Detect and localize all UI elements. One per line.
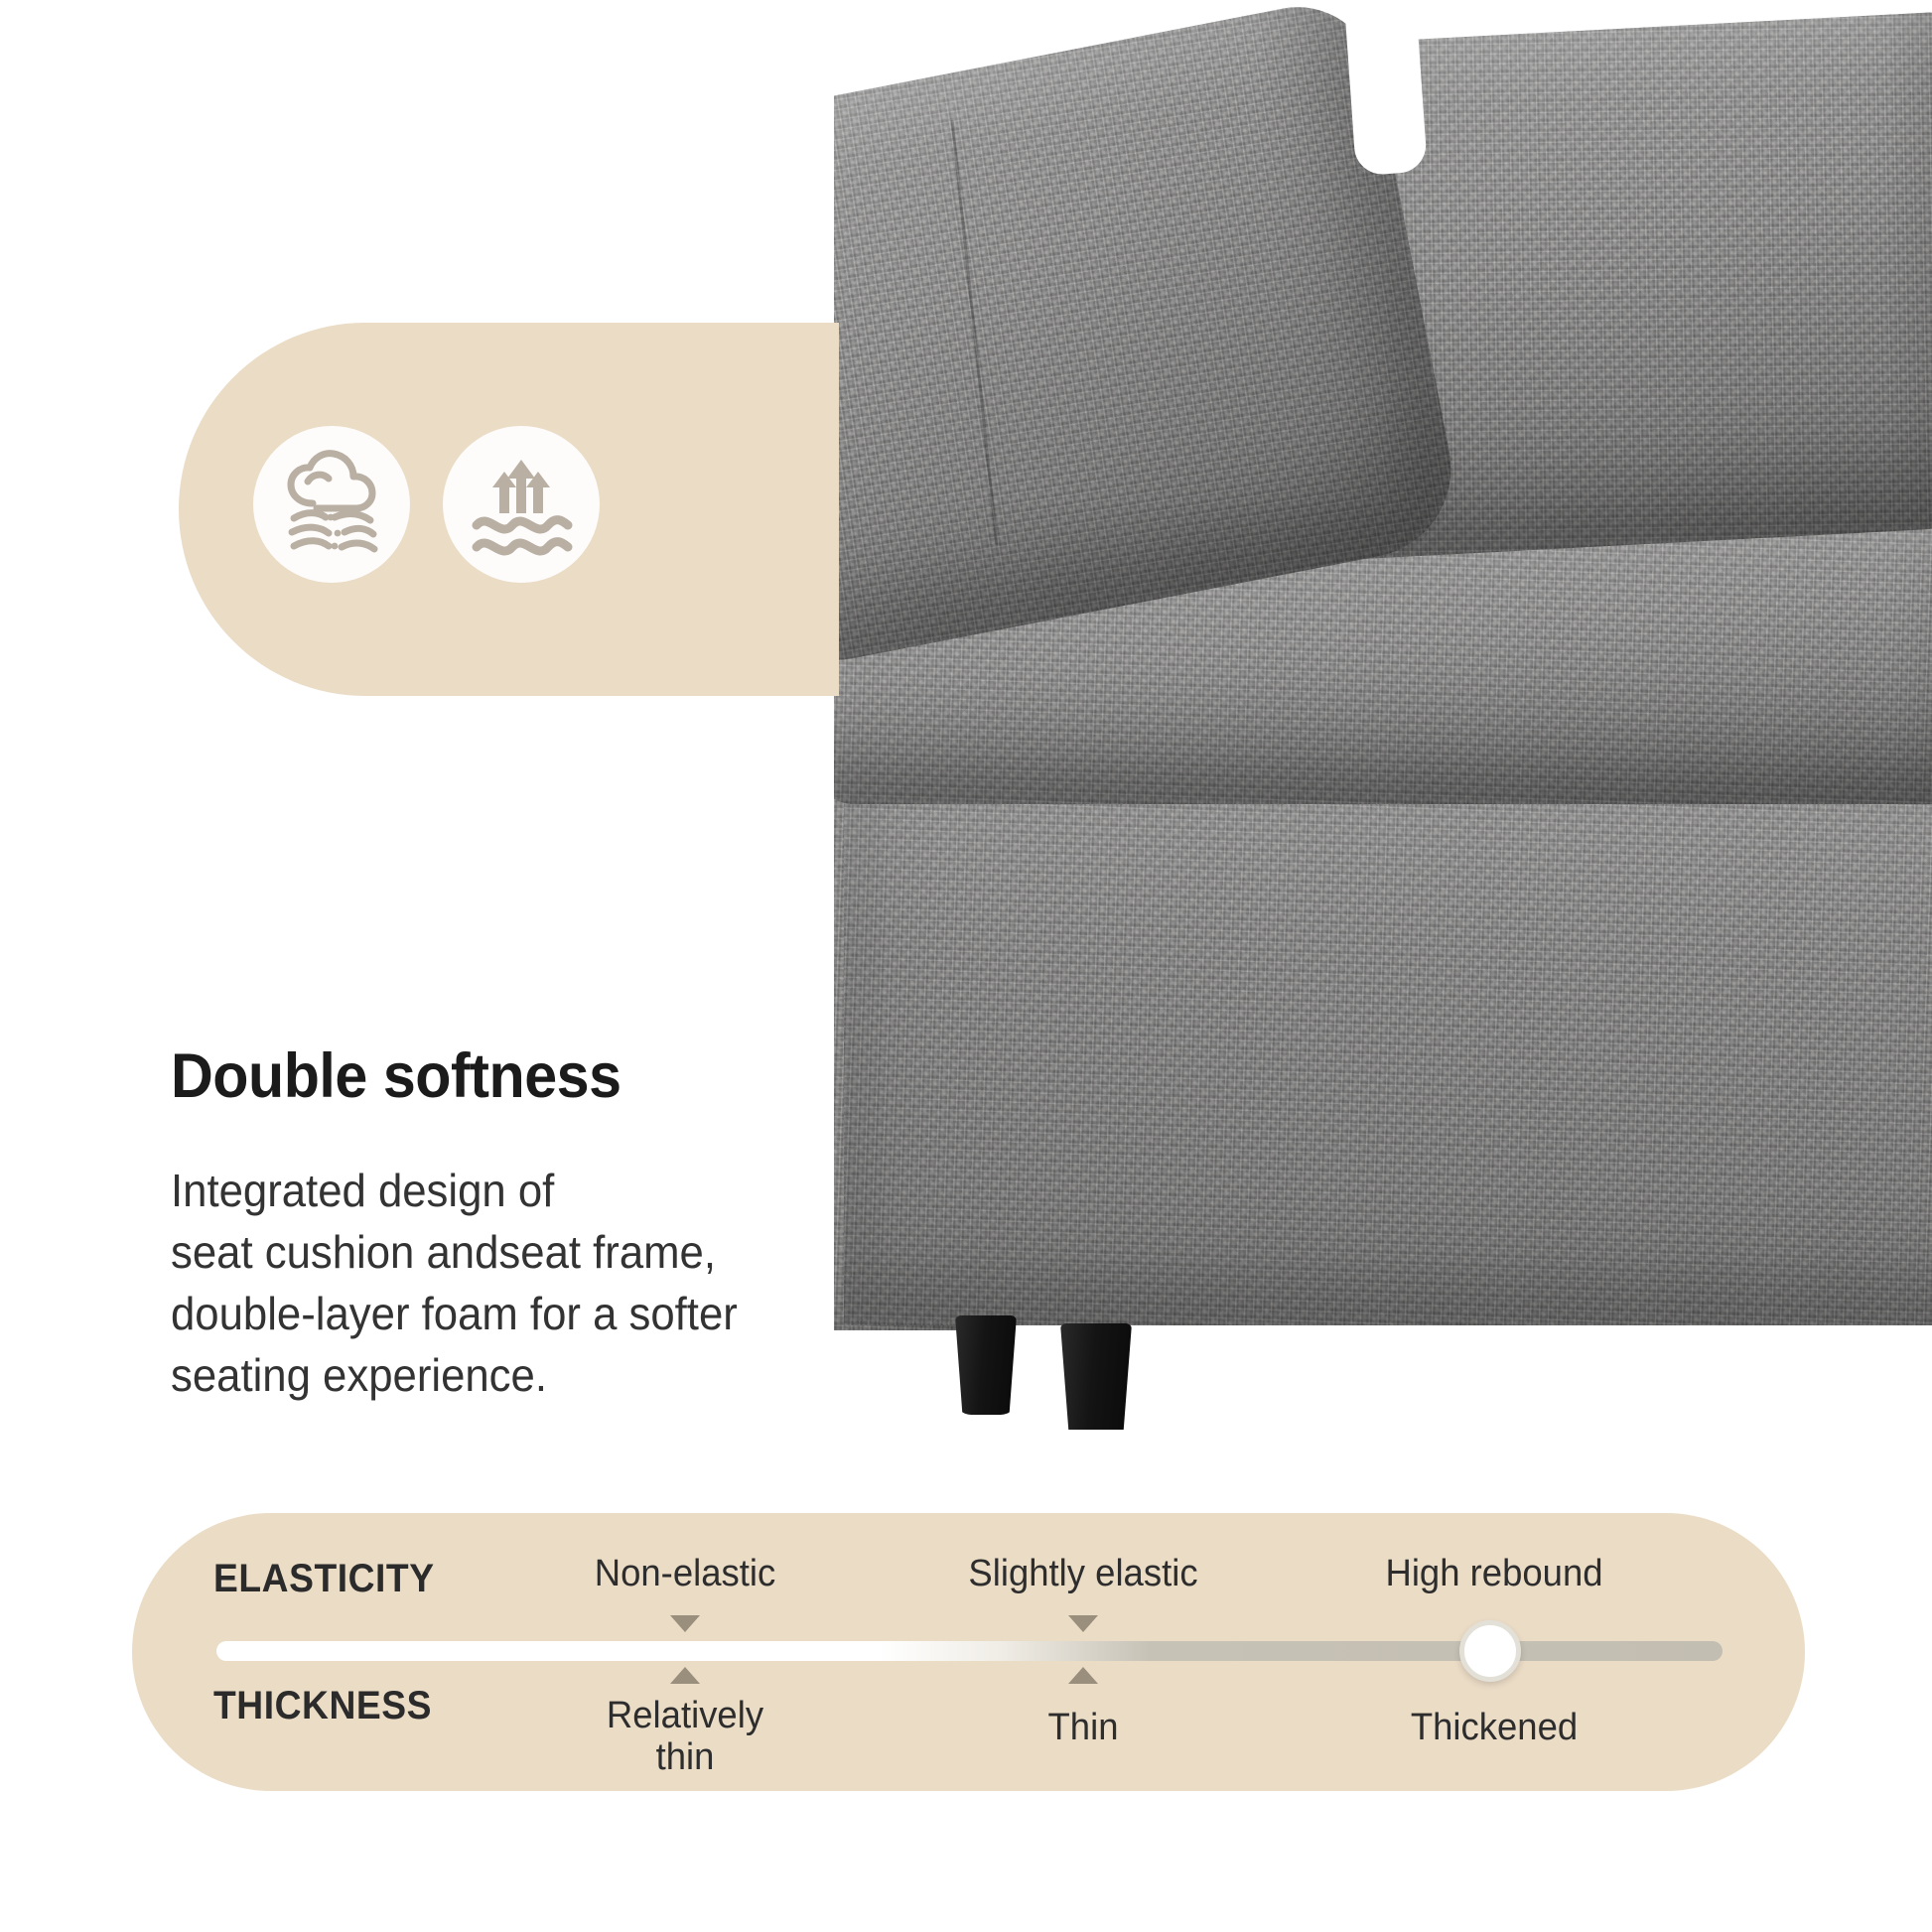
pillow-gap-notch <box>1344 0 1428 176</box>
thickness-tick-thickened: Thickened <box>1411 1707 1578 1748</box>
thickness-tick-thin: Thin <box>1048 1707 1119 1748</box>
elasticity-tick-slightly-elastic: Slightly elastic <box>968 1553 1197 1595</box>
elasticity-tick-non-elastic: Non-elastic <box>595 1553 775 1595</box>
thickness-tick-line: Relatively <box>607 1695 763 1736</box>
thickness-caret-relatively-thin <box>670 1667 700 1684</box>
cloud-softness-icon <box>253 426 410 583</box>
thickness-tick-line: thin <box>656 1736 715 1778</box>
feature-description: Integrated design of seat cushion andsea… <box>171 1160 831 1406</box>
elasticity-caret-slightly-elastic <box>1068 1615 1098 1632</box>
spec-row-label-elasticity: ELASTICITY <box>213 1557 435 1601</box>
product-feature-card: Double softness Integrated design of sea… <box>0 0 1932 1932</box>
description-line: seating experience. <box>171 1344 831 1406</box>
sofa-leg-front <box>955 1315 1017 1415</box>
spec-slider-knob[interactable] <box>1459 1620 1521 1682</box>
elasticity-tick-high-rebound: High rebound <box>1385 1553 1602 1595</box>
page-title: Double softness <box>171 1040 621 1112</box>
feature-icon-badge <box>179 323 839 696</box>
sofa-leg-rear <box>1060 1323 1132 1430</box>
description-line: seat cushion andseat frame, <box>171 1221 831 1283</box>
rebound-waves-icon <box>443 426 600 583</box>
elasticity-caret-non-elastic <box>670 1615 700 1632</box>
spec-comparison-panel: ELASTICITY THICKNESS Non-elastic Relativ… <box>132 1513 1805 1791</box>
description-line: Integrated design of <box>171 1160 831 1221</box>
sofa-product-photo <box>834 0 1932 1430</box>
spec-row-label-thickness: THICKNESS <box>213 1684 432 1728</box>
sofa-base-shading <box>844 730 1932 1325</box>
thickness-tick-relatively-thin: Relatively thin <box>607 1695 763 1778</box>
thickness-caret-thin <box>1068 1667 1098 1684</box>
description-line: double-layer foam for a softer <box>171 1283 831 1344</box>
